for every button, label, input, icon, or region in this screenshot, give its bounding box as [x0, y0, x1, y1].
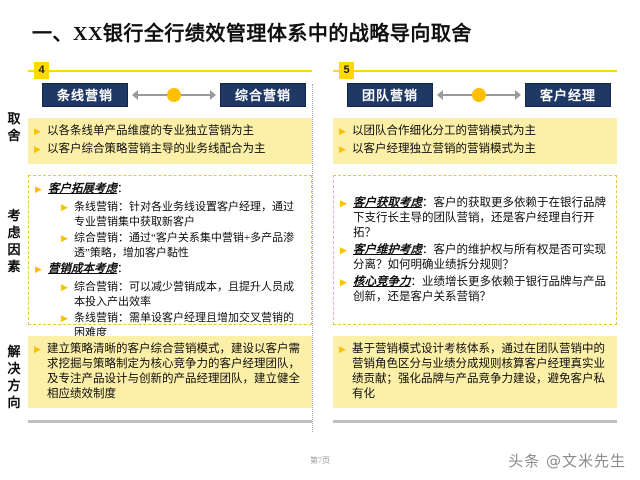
row-label-char: 素 [4, 258, 24, 275]
factor-heading: 营销成本考虑 [48, 263, 117, 275]
bullet-item: ▶ 客户维护考虑：客户的维护权与所有权是否可实现分离？如何明确业绩拆分规则？ [340, 243, 608, 273]
header-rule [333, 70, 617, 72]
bullet-marker-icon: ▶ [339, 342, 352, 358]
bullet-item: ▶ 客户获取考虑：客户的获取更多依赖于在银行品牌下支行长主导的团队营销，还是客户… [340, 196, 608, 241]
bullet-item: ▶ 综合营销：通过“客户关系集中营销+多产品渗透”策略，增加客户黏性 [61, 231, 303, 260]
bullet-item: ▶ 基于营销模式设计考核体系，通过在团队营销中的营销角色区分与业绩分成规则核算客… [339, 342, 609, 402]
bullet-item: ▶ 建立策略清晰的客户综合营销模式，建设以客户需求挖掘与策略制定为核心竞争力的客… [34, 342, 304, 402]
row-label-char: 因 [4, 241, 24, 258]
bullet-label: 以团队合作细化分工的营销模式为主 [352, 124, 609, 139]
factor-heading-suffix: ： [422, 197, 434, 209]
double-arrow-icon [132, 83, 216, 107]
watermark: 头条 @文米先生 [508, 450, 626, 471]
bullet-label: 以客户经理独立营销的营销模式为主 [352, 142, 609, 157]
row-label-char: 考 [4, 207, 24, 224]
bullet-marker-icon: ▶ [34, 124, 47, 140]
balance-dot-icon [472, 88, 486, 102]
bullet-marker-icon: ▶ [61, 200, 74, 216]
slide-body: 取 舍 考 虑 因 素 解 决 方 向 4 条线营销 [0, 62, 640, 434]
bullet-item: ▶ 以团队合作细化分工的营销模式为主 [339, 124, 609, 140]
bullet-marker-icon: ▶ [339, 142, 352, 158]
bullet-item: ▶ 综合营销：可以减少营销成本，且提升人员成本投入产出效率 [61, 280, 303, 309]
solution-block-5: ▶ 基于营销模式设计考核体系，通过在团队营销中的营销角色区分与业绩分成规则核算客… [333, 336, 617, 408]
row-label-char: 虑 [4, 224, 24, 241]
bullet-marker-icon: ▶ [34, 342, 47, 358]
column-header-4: 4 [28, 62, 312, 80]
bullet-marker-icon: ▶ [61, 231, 74, 247]
row-label-char: 取 [4, 110, 24, 127]
contrast-pair-5: 团队营销 客户经理 [333, 83, 617, 109]
bullet-label: 条线营销：针对各业务线设置客户经理，通过专业营销集中获取新客户 [74, 200, 303, 229]
contrast-pair-4: 条线营销 综合营销 [28, 83, 312, 109]
arrow-head-left-icon [132, 90, 138, 100]
bullet-label: 综合营销：可以减少营销成本，且提升人员成本投入产出效率 [74, 280, 303, 309]
bullet-label: 建立策略清晰的客户综合营销模式，建设以客户需求挖掘与策略制定为核心竞争力的客户经… [47, 342, 304, 402]
row-label-char: 舍 [4, 127, 24, 144]
row-label-char: 决 [4, 360, 24, 377]
option-box-right-5[interactable]: 客户经理 [525, 83, 611, 107]
row-label-solution: 解 决 方 向 [4, 343, 24, 411]
bullet-item: ▶ 以各条线单产品维度的专业独立营销为主 [34, 124, 304, 140]
bullet-marker-icon: ▶ [340, 243, 353, 259]
slide-root: 一、XX银行全行绩效管理体系中的战略导向取舍 取 舍 考 虑 因 素 解 决 方… [0, 0, 640, 480]
double-arrow-icon [437, 83, 521, 107]
row-label-tradeoff: 取 舍 [4, 110, 24, 144]
column-5: 5 团队营销 客户经理 ▶ 以团队合作细化分工的营销模式为主 [333, 62, 617, 408]
column-header-5: 5 [333, 62, 617, 80]
bullet-label: 核心竞争力：业绩增长更多依赖于银行品牌与产品创新，还是客户关系营销？ [353, 275, 608, 305]
bullet-item: ▶ 核心竞争力：业绩增长更多依赖于银行品牌与产品创新，还是客户关系营销？ [340, 275, 608, 305]
bullet-label: 基于营销模式设计考核体系，通过在团队营销中的营销角色区分与业绩分成规则核算客户经… [352, 342, 609, 402]
page-number: 第7页 [310, 455, 330, 466]
section-badge-5: 5 [339, 62, 354, 79]
factor-heading: 客户维护考虑 [353, 244, 422, 256]
bottom-rule-left [28, 420, 312, 423]
factor-heading-suffix: ： [117, 183, 129, 195]
bottom-rule-right [333, 420, 617, 423]
bullet-marker-icon: ▶ [35, 262, 48, 278]
factor-heading: 客户获取考虑 [353, 197, 422, 209]
bullet-label: 综合营销：通过“客户关系集中营销+多产品渗透”策略，增加客户黏性 [74, 231, 303, 260]
factor-heading-suffix: ： [117, 263, 129, 275]
column-4: 4 条线营销 综合营销 ▶ 以各条线单产品维度的专业独立营销为主 [28, 62, 312, 408]
tradeoff-block-5: ▶ 以团队合作细化分工的营销模式为主 ▶ 以客户经理独立营销的营销模式为主 [333, 118, 617, 164]
bullet-marker-icon: ▶ [61, 280, 74, 296]
bullet-item: ▶ 以客户经理独立营销的营销模式为主 [339, 142, 609, 158]
bullet-label: 营销成本考虑： [48, 262, 303, 277]
bullet-label: 以客户综合策略营销主导的业务线配合为主 [47, 142, 304, 157]
bullet-label: 客户拓展考虑： [48, 182, 303, 197]
balance-dot-icon [167, 88, 181, 102]
bullet-label: 以各条线单产品维度的专业独立营销为主 [47, 124, 304, 139]
row-label-char: 方 [4, 377, 24, 394]
factors-block-5: ▶ 客户获取考虑：客户的获取更多依赖于在银行品牌下支行长主导的团队营销，还是客户… [333, 175, 617, 325]
arrow-head-right-icon [210, 90, 216, 100]
bullet-marker-icon: ▶ [61, 311, 74, 327]
solution-block-4: ▶ 建立策略清晰的客户综合营销模式，建设以客户需求挖掘与策略制定为核心竞争力的客… [28, 336, 312, 408]
factor-heading-suffix: ： [422, 244, 434, 256]
row-label-char: 向 [4, 394, 24, 411]
bullet-label: 客户获取考虑：客户的获取更多依赖于在银行品牌下支行长主导的团队营销，还是客户经理… [353, 196, 608, 241]
bullet-marker-icon: ▶ [340, 275, 353, 291]
factor-heading-suffix: ： [411, 276, 423, 288]
bullet-item: ▶ 客户拓展考虑： [35, 182, 303, 198]
factor-heading: 核心竞争力 [353, 276, 411, 288]
header-rule [28, 70, 312, 72]
bullet-marker-icon: ▶ [340, 196, 353, 212]
row-label-factors: 考 虑 因 素 [4, 207, 24, 275]
bullet-label: 客户维护考虑：客户的维护权与所有权是否可实现分离？如何明确业绩拆分规则？ [353, 243, 608, 273]
bullet-item: ▶ 营销成本考虑： [35, 262, 303, 278]
arrow-head-left-icon [437, 90, 443, 100]
tradeoff-block-4: ▶ 以各条线单产品维度的专业独立营销为主 ▶ 以客户综合策略营销主导的业务线配合… [28, 118, 312, 164]
row-label-char: 解 [4, 343, 24, 360]
option-box-right-4[interactable]: 综合营销 [220, 83, 306, 107]
arrow-head-right-icon [515, 90, 521, 100]
bullet-marker-icon: ▶ [339, 124, 352, 140]
option-box-left-5[interactable]: 团队营销 [347, 83, 433, 107]
bullet-marker-icon: ▶ [35, 182, 48, 198]
factor-heading: 客户拓展考虑 [48, 183, 117, 195]
factors-block-4: ▶ 客户拓展考虑： ▶ 条线营销：针对各业务线设置客户经理，通过专业营销集中获取… [28, 175, 312, 325]
bullet-item: ▶ 以客户综合策略营销主导的业务线配合为主 [34, 142, 304, 158]
bullet-item: ▶ 条线营销：针对各业务线设置客户经理，通过专业营销集中获取新客户 [61, 200, 303, 229]
option-box-left-4[interactable]: 条线营销 [42, 83, 128, 107]
section-badge-4: 4 [34, 62, 49, 79]
page-title: 一、XX银行全行绩效管理体系中的战略导向取舍 [32, 17, 472, 46]
column-divider [312, 84, 313, 432]
bullet-marker-icon: ▶ [34, 142, 47, 158]
